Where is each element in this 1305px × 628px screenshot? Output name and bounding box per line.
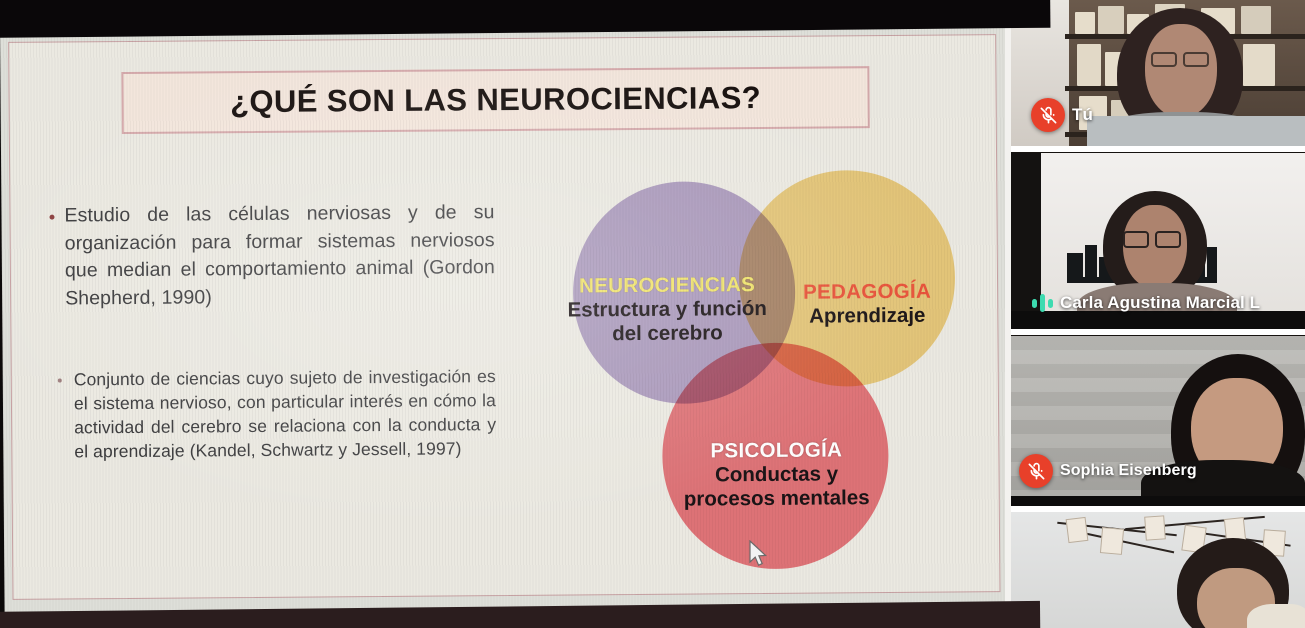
bullet-dot-icon [58, 378, 62, 382]
tile-divider [1005, 146, 1305, 152]
venn-diagram: NEUROCIENCIAS Estructura y función del c… [550, 155, 973, 578]
participant-badge: Tú [1031, 98, 1093, 132]
arrow-pointer-icon [748, 540, 770, 570]
rail-edge-sliver [1005, 0, 1011, 628]
participant-name: Tú [1072, 105, 1093, 125]
venn-label-neurociencias: NEUROCIENCIAS Estructura y función del c… [561, 273, 774, 347]
slide-title-box: ¿QUÉ SON LAS NEUROCIENCIAS? [121, 66, 869, 134]
video-tile-sophia[interactable]: Sophia Eisenberg [1005, 336, 1305, 508]
video-tile-carla[interactable]: Carla Agustina Marcial L [1005, 153, 1305, 329]
video-participant-rail: Tú Carla Agustina Marcial L [1005, 0, 1305, 628]
presentation-slide: ¿QUÉ SON LAS NEUROCIENCIAS? Estudio de l… [8, 34, 1000, 600]
venn-body: Conductas y procesos mentales [680, 462, 872, 512]
venn-body: Estructura y función del cerebro [561, 297, 773, 347]
venn-label-psicologia: PSICOLOGÍA Conductas y procesos mentales [680, 438, 873, 512]
slide-bullet-list: Estudio de las células nerviosas y de su… [42, 199, 496, 464]
participant-badge: Sophia Eisenberg [1019, 454, 1197, 488]
tile-divider [1005, 329, 1305, 335]
mic-muted-icon[interactable] [1019, 454, 1053, 488]
venn-heading: PEDAGOGÍA [779, 280, 955, 306]
audio-level-icon[interactable] [1032, 293, 1053, 313]
tile-bottom-shadow [1005, 311, 1305, 329]
participant-name: Carla Agustina Marcial L [1060, 293, 1260, 313]
venn-body: Aprendizaje [779, 304, 955, 330]
participant-name: Sophia Eisenberg [1060, 462, 1197, 480]
participant-badge: Carla Agustina Marcial L [1032, 293, 1260, 313]
shared-screen-area: ¿QUÉ SON LAS NEUROCIENCIAS? Estudio de l… [0, 18, 1011, 616]
venn-label-pedagogia: PEDAGOGÍA Aprendizaje [779, 280, 955, 330]
list-item: Conjunto de ciencias cuyo sujeto de inve… [44, 364, 497, 464]
video-tile-4[interactable] [1005, 512, 1305, 628]
venn-heading: PSICOLOGÍA [680, 438, 872, 464]
venn-heading: NEUROCIENCIAS [561, 273, 773, 299]
page-title: ¿QUÉ SON LAS NEUROCIENCIAS? [230, 80, 761, 120]
bullet-dot-icon [49, 215, 54, 220]
mic-muted-icon[interactable] [1031, 98, 1065, 132]
bullet-text: Estudio de las células nerviosas y de su… [64, 201, 495, 309]
mouse-cursor [748, 540, 770, 575]
bullet-text: Conjunto de ciencias cuyo sujeto de inve… [74, 366, 497, 462]
screenshot-root: ¿QUÉ SON LAS NEUROCIENCIAS? Estudio de l… [0, 0, 1305, 628]
list-item: Estudio de las células nerviosas y de su… [42, 199, 495, 313]
